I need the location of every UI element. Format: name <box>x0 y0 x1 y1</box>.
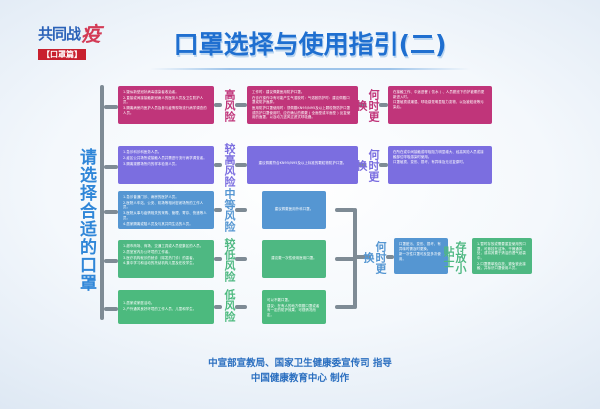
mask-line: 建议佩戴医用外科口罩。 <box>267 207 321 212</box>
logo-main-text: 共同战疫 <box>38 27 130 42</box>
risk-label-higher: 较高风险 <box>221 142 235 188</box>
shared-replace-line: 口罩脏污、变形、损坏、有异味时需及时更换。 <box>399 242 443 251</box>
mask-line: 工作时：建议佩戴医用防护口罩。 <box>252 90 353 95</box>
connector-shared-replace-to-card <box>386 255 394 259</box>
connector-risk-to-mask-4 <box>235 257 247 261</box>
who-line: 2.医院人车站、公安、机场等相对密闭场所的工作人员。 <box>123 201 209 210</box>
mask-card-1: 工作时：建议佩戴医用防护口罩。 在诊疗操作中有可能产生气溶胶时：气溶胶防护时：建… <box>247 86 358 124</box>
who-line: 3.隔离病房内医护人员及参与疫情现场流行病学调查的人员。 <box>123 106 209 115</box>
footer: 中宣部宣教局、国家卫生健康委宣传司 指导 中国健康教育中心 制作 <box>0 356 600 386</box>
who-line: 2.直接或间接接触新冠病人的医务人员及卫生防护人员。 <box>123 96 209 105</box>
who-line: 3.医疗机构就诊的就诊（除发热门诊）的患者。 <box>123 256 209 261</box>
storage-line: 1.暂时存放或需要重复使用的口罩，可悬挂在洁净、干燥通风处，或将其置于清洁的透气… <box>477 242 527 260</box>
who-line: 1.居家或家庭活动。 <box>123 301 209 306</box>
risk-label-low: 低风险 <box>221 288 235 322</box>
connector-replace-to-card-2 <box>379 163 388 167</box>
mask-card-4: 建议戴一次性使用医用口罩。 <box>262 240 326 278</box>
who-line: 2.疫区公共场所或接触人员并需进行流行病学调查者。 <box>123 156 209 161</box>
who-line: 2.居室室内办公环境的工作者。 <box>123 250 209 255</box>
poster-root: 共同战疫 【口罩篇】 口罩选择与使用指引(二) 请选择合适的口罩 1.疑似新型冠… <box>0 0 600 409</box>
shared-replace-label: 何时更换 <box>372 240 386 274</box>
mask-card-5: 可以不戴口罩。 建议：在有人的地方佩戴口罩或者有一定的防护效果，可视情况而定。 <box>262 290 326 324</box>
storage-tips-card: 1.暂时存放或需要重复使用的口罩，可悬挂在洁净、干燥通风处，或将其置于清洁的透气… <box>472 238 532 274</box>
who-card-3: 1.急诊普通门诊、病房的医护人员。 2.医院人车站、公安、机场等相对密闭场所的工… <box>118 191 214 229</box>
replace-line: 口罩破损或潮湿、呼吸感觉明显阻力变物、以及被粘液等污染后。 <box>393 100 487 109</box>
who-line: 4.居家隔离或陪人员及与其共同生活的人员。 <box>123 222 209 227</box>
connector-spine-to-who-2 <box>104 165 118 169</box>
connector-spine-to-who-1 <box>104 105 118 109</box>
who-card-2: 1.急诊科诊科医务人员。 2.疫区公共场所或接触人员并需进行流行病学调查者。 3… <box>118 146 214 184</box>
who-line: 3.隔离观察场所内的样本检测人员。 <box>123 162 209 167</box>
mask-line: 建议戴一次性使用医用口罩。 <box>267 256 321 261</box>
replace-line: 口罩破损、变形、损坏、有异味及无法复原时。 <box>393 160 487 165</box>
footer-line-2: 中国健康教育中心 制作 <box>0 371 600 386</box>
replace-label-2: 何时更换 <box>365 148 379 182</box>
logo-yi-char: 疫 <box>81 22 100 46</box>
replace-line: 在所在或中间接触或呼吸阻力明显增大、经高风险人员或接触部位呼吸感染时使用。 <box>393 150 487 159</box>
replace-card-1: 在接触工作、中途进餐 ( 饮水 ) 、人员脱班下的护被覆的更新进入时。 口罩破损… <box>388 86 492 124</box>
who-card-4: 1.超市商场、商场、交通工具或人员密集区的人员。 2.居室室内办公环境的工作者。… <box>118 240 214 278</box>
risk-label-high: 高风险 <box>221 86 235 124</box>
replace-card-2: 在所在或中间接触或呼吸阻力明显增大、经高风险人员或接触部位呼吸感染时使用。 口罩… <box>388 146 492 184</box>
who-line: 1.急诊科诊科医务人员。 <box>123 150 209 155</box>
connector-risk-to-mask-2 <box>235 163 247 167</box>
storage-tips-label: 存放小贴士 <box>452 236 466 278</box>
replace-label-1: 何时更换 <box>365 88 379 122</box>
who-line: 4.集中学习和活动的托幼机构儿童及在校学生。 <box>123 261 209 266</box>
shared-replace-card: 口罩脏污、变形、损坏、有异味时需及时更换。 新一次性口罩可反复多次使用。 <box>394 238 448 274</box>
mask-card-3: 建议佩戴医用外科口罩。 <box>262 191 326 229</box>
who-line: 1.超市商场、商场、交通工具或人员密集区的人员。 <box>123 244 209 249</box>
mask-line: 建议佩戴符合KN95/N95及以上标准的颗粒物防护口罩。 <box>252 161 353 166</box>
connector-spine-to-who-4 <box>104 259 118 263</box>
campaign-logo: 共同战疫 【口罩篇】 <box>38 27 130 63</box>
connector-risk-to-mask-3 <box>235 208 247 212</box>
storage-line: 2.口罩需单独存放，避免彼此接触，并标识口罩使用人员。 <box>477 262 527 271</box>
who-card-5: 1.居家或家庭活动。 2.户外通风良好环境的工作人员、儿童和学生。 <box>118 290 214 324</box>
who-line: 2.户外通风良好环境的工作人员、儿童和学生。 <box>123 307 209 312</box>
mask-line: 可以不戴口罩。 <box>267 298 321 303</box>
mask-line: 医用防护口罩使用时：须佩戴KN95/N95及以上颗粒物防护口罩或防护口罩使用时，… <box>252 106 353 120</box>
risk-label-medium: 中等风险 <box>221 188 235 232</box>
mask-card-2: 建议佩戴符合KN95/N95及以上标准的颗粒物防护口罩。 <box>247 146 358 184</box>
mask-line: 建议：在有人的地方佩戴口罩或者有一定的防护效果，可视情况而定。 <box>267 304 321 318</box>
left-vertical-prompt: 请选择合适的口罩 <box>58 132 96 307</box>
mask-line: 在诊疗操作中有可能产生气溶胶时：气溶胶防护时：建议佩戴口罩或防护面屏。 <box>252 96 353 105</box>
bracket-arm-lower <box>335 257 355 261</box>
page-title: 口罩选择与使用指引(二) <box>160 28 460 62</box>
main-spine-connector <box>100 85 104 320</box>
logo-subtitle: 【口罩篇】 <box>38 49 86 60</box>
connector-risk-to-mask-1 <box>235 103 247 107</box>
shared-replace-line: 新一次性口罩可反复多次使用。 <box>399 252 443 261</box>
footer-line-1: 中宣部宣教局、国家卫生健康委宣传司 指导 <box>0 356 600 371</box>
connector-risk-to-mask-5 <box>235 305 247 309</box>
logo-main-label: 共同战 <box>38 25 80 43</box>
replace-line: 在接触工作、中途进餐 ( 饮水 ) 、人员脱班下的护被覆的更新进入时。 <box>393 90 487 99</box>
bracket-arm-medium <box>335 208 355 212</box>
who-line: 1.急诊普通门诊、病房的医护人员。 <box>123 195 209 200</box>
who-line: 3.医院从事与疫情相关的采购、管理、寄存、快递等人员。 <box>123 211 209 220</box>
bracket-arm-low <box>335 305 355 309</box>
who-card-1: 1.疑似新型冠状病毒感染者收治者。 2.直接或间接接触新冠病人的医务人员及卫生防… <box>118 86 214 124</box>
connector-replace-to-card-1 <box>379 103 388 107</box>
connector-spine-to-who-3 <box>104 210 118 214</box>
title-underline <box>150 68 470 70</box>
risk-label-lower: 较低风险 <box>221 238 235 282</box>
connector-spine-to-who-5 <box>104 307 118 311</box>
who-line: 1.疑似新型冠状病毒感染者收治者。 <box>123 90 209 95</box>
